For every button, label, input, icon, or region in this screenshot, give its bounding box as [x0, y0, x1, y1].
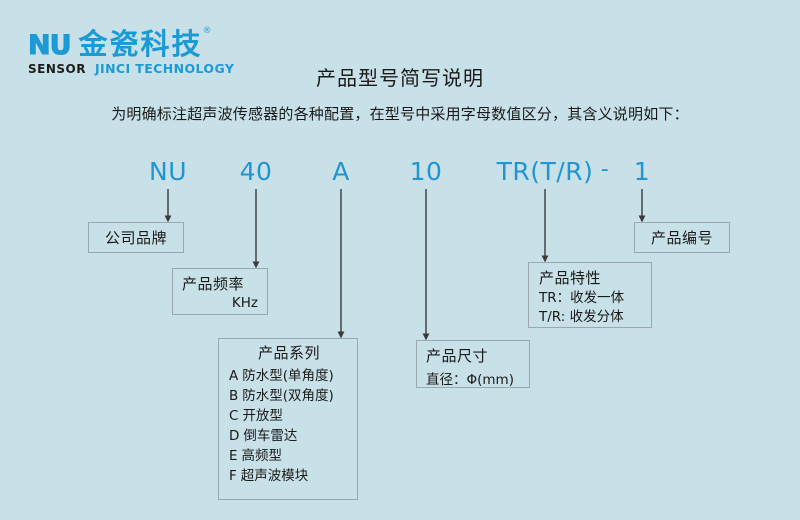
model-code-token: NU	[149, 157, 187, 186]
series-item-label: 倒车雷达	[243, 428, 297, 444]
series-list-item: E高频型	[229, 446, 349, 466]
callout-number: 产品编号	[634, 222, 730, 253]
callout-brand: 公司品牌	[88, 222, 184, 253]
callout-characteristic-line1: TR：收发一体	[539, 289, 643, 308]
series-item-label: 防水型(单角度)	[242, 368, 334, 384]
callout-characteristic-line2: T/R: 收发分体	[539, 308, 643, 327]
callout-series: 产品系列 A防水型(单角度)B防水型(双角度)C开放型D倒车雷达E高频型F超声波…	[218, 338, 358, 500]
logo-nu-mark: NU	[28, 32, 71, 59]
series-item-label: 超声波模块	[241, 468, 309, 484]
callout-size: 产品尺寸 直径：Φ(mm)	[416, 340, 530, 388]
model-code-token: 10	[410, 157, 443, 186]
registered-trademark-icon: ®	[203, 27, 214, 36]
model-code-token: -	[601, 157, 609, 182]
diagram-canvas: NU 金瓷科技® SENSOR JINCI TECHNOLOGY 产品型号简写说…	[0, 0, 800, 520]
model-code-token: 40	[240, 157, 273, 186]
series-list-item: D倒车雷达	[229, 426, 349, 446]
callout-size-title: 产品尺寸	[426, 345, 520, 366]
series-item-label: 防水型(双角度)	[242, 388, 334, 404]
series-item-code: B	[229, 388, 238, 404]
model-code-token: 1	[634, 157, 650, 186]
series-item-code: E	[229, 448, 238, 464]
series-list-item: F超声波模块	[229, 466, 349, 486]
series-item-code: D	[229, 428, 239, 444]
series-item-label: 高频型	[242, 448, 283, 464]
callout-brand-title: 公司品牌	[105, 227, 167, 248]
series-item-code: C	[229, 408, 238, 424]
callout-characteristic: 产品特性 TR：收发一体 T/R: 收发分体	[528, 262, 652, 328]
logo-brand-cn: 金瓷科技®	[79, 30, 203, 59]
page-title: 产品型号简写说明	[0, 62, 800, 91]
series-list-item: A防水型(单角度)	[229, 366, 349, 386]
model-code-token: A	[332, 157, 350, 186]
callout-characteristic-title: 产品特性	[539, 267, 643, 288]
series-item-label: 开放型	[242, 408, 283, 424]
callout-series-title: 产品系列	[229, 342, 349, 363]
callout-frequency-unit: KHz	[182, 295, 258, 311]
callout-frequency: 产品频率 KHz	[172, 268, 268, 315]
series-list: A防水型(单角度)B防水型(双角度)C开放型D倒车雷达E高频型F超声波模块	[229, 366, 349, 486]
logo-top-row: NU 金瓷科技®	[28, 30, 203, 59]
model-code-token: TR(T/R)	[497, 157, 594, 186]
callout-frequency-title: 产品频率	[182, 273, 258, 294]
callout-number-title: 产品编号	[651, 227, 713, 248]
logo-brand-cn-text: 金瓷科技	[79, 27, 203, 61]
series-item-code: F	[229, 468, 237, 484]
page-subtitle: 为明确标注超声波传感器的各种配置，在型号中采用字母数值区分，其含义说明如下：	[0, 103, 800, 124]
callout-size-detail: 直径：Φ(mm)	[426, 368, 520, 388]
series-list-item: B防水型(双角度)	[229, 386, 349, 406]
series-list-item: C开放型	[229, 406, 349, 426]
series-item-code: A	[229, 368, 238, 384]
